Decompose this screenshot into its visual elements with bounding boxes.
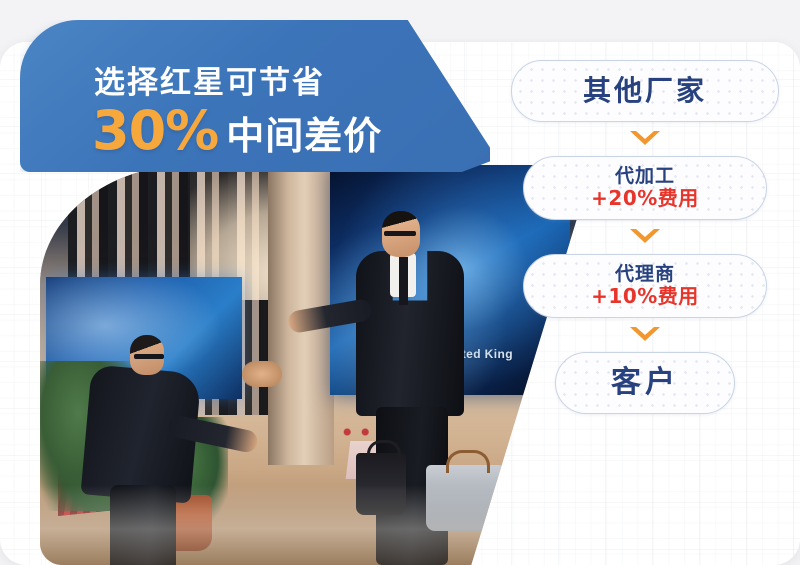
supply-chain-flow: 其他厂家 代加工 +20%费用 代理商 +10%费用 [500,60,790,414]
banner-headline-line2: 30% 中间差价 [92,99,382,162]
flow-step-0-title: 其他厂家 [583,75,707,106]
flow-step-customer[interactable]: 客户 [555,352,735,414]
flow-step-2-row: 代理商 +10%费用 [500,254,790,318]
flow-step-0-row: 其他厂家 [500,60,790,122]
flow-step-1-fee: +20%费用 [591,187,699,209]
photo-handshake [242,361,282,387]
flow-step-2-title: 代理商 [615,264,675,285]
banner-percent-label: 中间差价 [226,105,382,160]
flow-step-3-row: 客户 [500,352,790,414]
headline-banner: 选择红星可节省 30% 中间差价 [20,20,490,172]
flow-step-2-fee: +10%费用 [591,285,699,307]
chevron-down-icon-3 [500,324,790,346]
flow-step-agent[interactable]: 代理商 +10%费用 [523,254,767,318]
banner-headline-line1: 选择红星可节省 [94,57,325,102]
flow-step-1-row: 代加工 +20%费用 [500,156,790,220]
promo-banner-screenshot: ited King [0,0,800,565]
flow-step-3-title: 客户 [611,366,679,400]
flow-step-other-manufacturers[interactable]: 其他厂家 [511,60,779,122]
flow-step-1-title: 代加工 [615,166,675,187]
chevron-down-icon-2 [500,226,790,248]
chevron-down-icon [500,128,790,150]
flow-step-oem-processing[interactable]: 代加工 +20%费用 [523,156,767,220]
banner-percent-value: 30% [92,99,218,162]
